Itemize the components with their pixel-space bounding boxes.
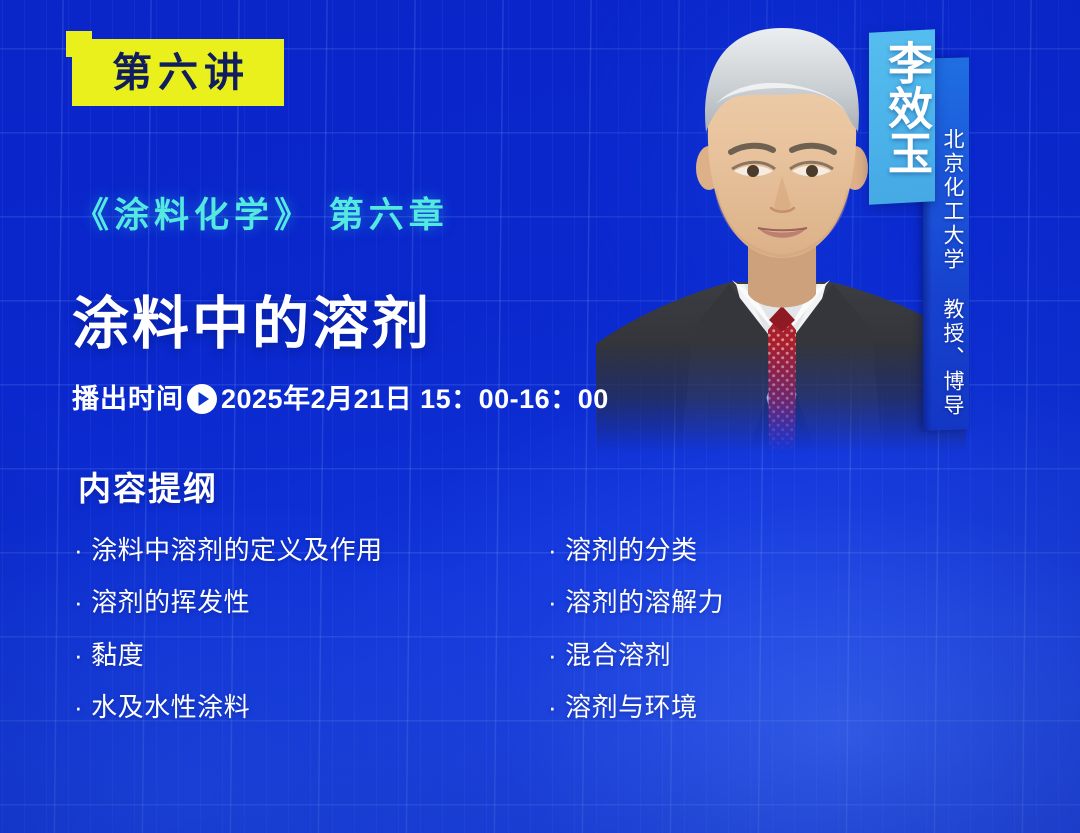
airtime-label: 播出时间	[72, 386, 184, 413]
outline-heading: 内容提纲	[78, 472, 218, 505]
bullet-icon: ·	[548, 533, 557, 567]
outline-item: · 水及水性涂料	[74, 690, 474, 724]
outline-columns: · 涂料中溶剂的定义及作用 · 溶剂的挥发性 · 黏度 · 水及水性涂料 · 溶…	[74, 533, 834, 724]
bullet-icon: ·	[548, 638, 557, 672]
bullet-icon: ·	[74, 690, 83, 724]
outline-item: · 溶剂的挥发性	[74, 585, 474, 619]
bullet-icon: ·	[548, 690, 557, 724]
lecture-badge-label: 第六讲	[106, 53, 250, 93]
outline-item: · 混合溶剂	[548, 638, 834, 672]
outline-column-left: · 涂料中溶剂的定义及作用 · 溶剂的挥发性 · 黏度 · 水及水性涂料	[74, 533, 474, 724]
badge-box: 第六讲	[72, 39, 284, 106]
outline-item-label: 溶剂与环境	[565, 690, 698, 724]
outline-item: · 溶剂与环境	[548, 690, 834, 724]
outline-item-label: 涂料中溶剂的定义及作用	[91, 533, 383, 567]
outline-item-label: 溶剂的挥发性	[91, 585, 250, 619]
outline-item: · 黏度	[74, 638, 474, 672]
lecture-poster: 北京化工大学 教授、博导 李效玉 第六讲 《涂料化学》 第六章 涂料中的溶剂 播…	[0, 0, 1080, 833]
outline-item-label: 水及水性涂料	[91, 690, 250, 724]
bullet-icon: ·	[74, 533, 83, 567]
outline-column-right: · 溶剂的分类 · 溶剂的溶解力 · 混合溶剂 · 溶剂与环境	[548, 533, 834, 724]
page-title: 涂料中的溶剂	[72, 296, 432, 353]
lecture-badge: 第六讲	[62, 28, 302, 114]
course-subtitle: 《涂料化学》 第六章	[74, 198, 449, 233]
play-icon[interactable]	[186, 383, 218, 415]
airtime-value: 2025年2月21日 15：00-16：00	[221, 386, 609, 413]
outline-item: · 涂料中溶剂的定义及作用	[74, 533, 474, 567]
bullet-icon: ·	[548, 585, 557, 619]
speaker-name: 李效玉	[873, 40, 931, 175]
outline-item: · 溶剂的溶解力	[548, 585, 834, 619]
outline-item-label: 混合溶剂	[565, 638, 671, 672]
outline-item-label: 黏度	[91, 638, 144, 672]
outline-item: · 溶剂的分类	[548, 533, 834, 567]
airtime-row: 播出时间 2025年2月21日 15：00-16：00	[72, 383, 609, 415]
bullet-icon: ·	[74, 638, 83, 672]
bullet-icon: ·	[74, 585, 83, 619]
outline-item-label: 溶剂的分类	[565, 533, 698, 567]
outline-item-label: 溶剂的溶解力	[565, 585, 724, 619]
